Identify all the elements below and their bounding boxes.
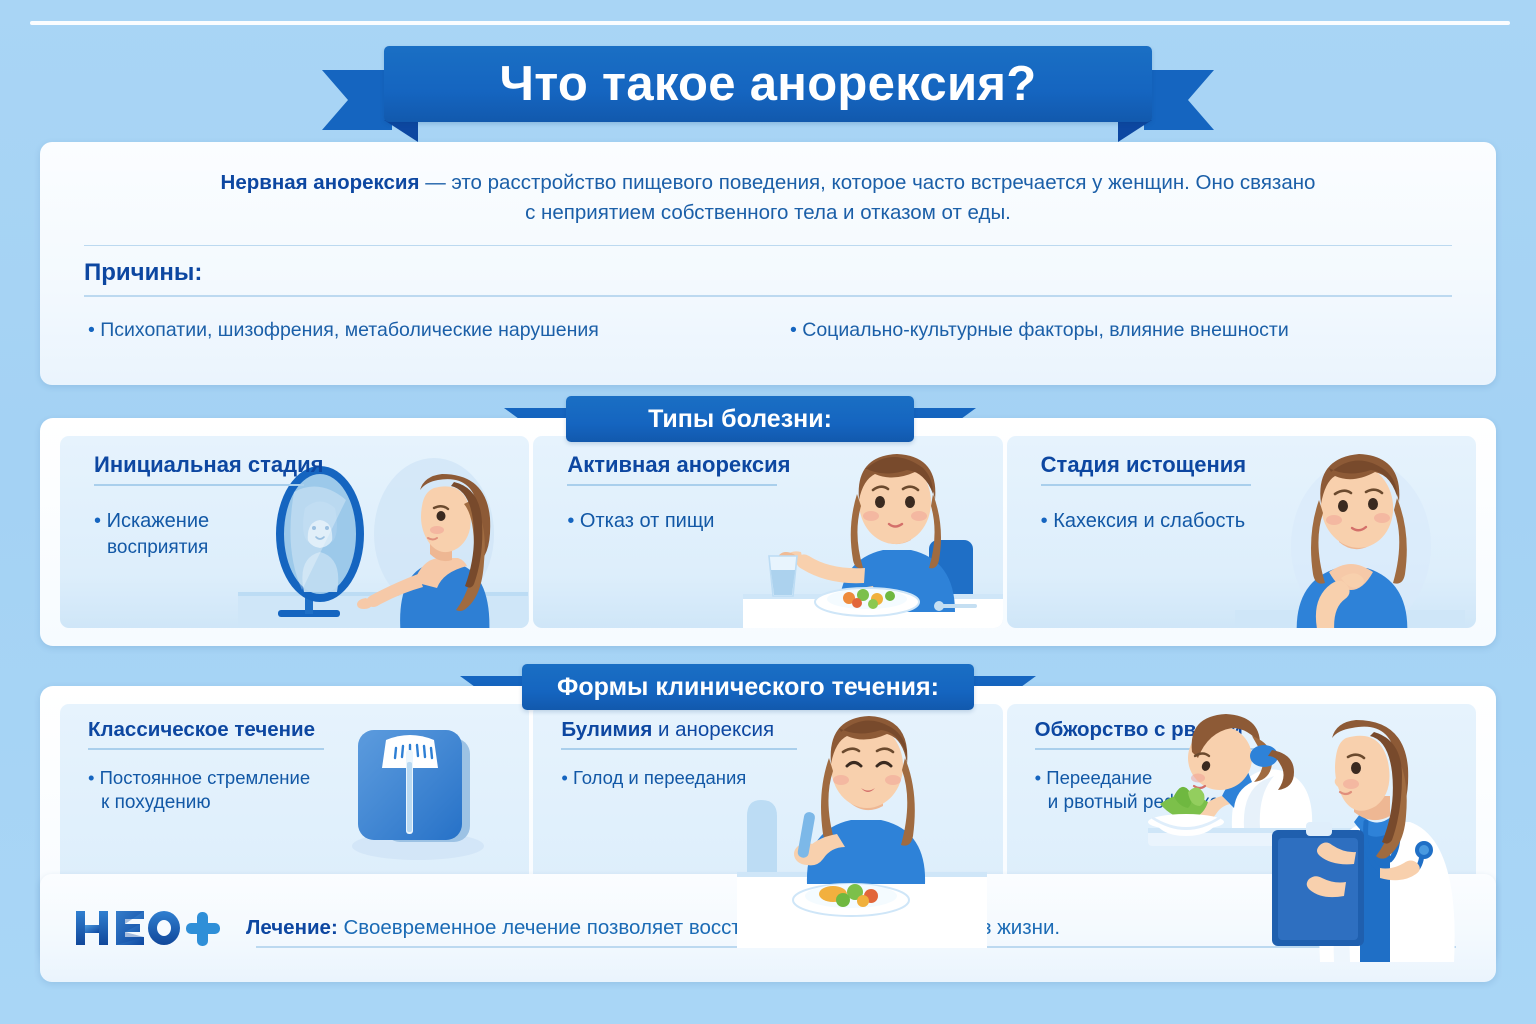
types-container: Инициальная стадия • Искажение восприяти… bbox=[40, 418, 1496, 646]
title-banner: Что такое анорексия? bbox=[384, 46, 1152, 122]
cause-text: Психопатии, шизофрения, метаболические н… bbox=[100, 319, 599, 341]
intro-paragraph: Нервная анорексия — это расстройство пищ… bbox=[40, 142, 1496, 229]
footer-divider bbox=[256, 946, 1456, 948]
bullet-dot-icon: • bbox=[567, 510, 574, 532]
type-panel-exhaustion: Стадия истощения • Кахексия и слабость bbox=[1007, 436, 1476, 628]
panel-bullet-text: Постоянное стремление bbox=[100, 767, 311, 788]
panel-title: Активная анорексия bbox=[533, 436, 1002, 478]
panel-title-light: и анорексия bbox=[652, 718, 774, 741]
panel-bullet-subtext: к похудению bbox=[88, 790, 340, 816]
intro-lead: Нервная анорексия bbox=[221, 171, 420, 194]
bullet-dot-icon: • bbox=[88, 319, 95, 341]
panel-bullet-subtext: и рвотный рефлекс bbox=[1035, 790, 1287, 816]
causes-label: Причины: bbox=[40, 246, 1496, 295]
bullet-dot-icon: • bbox=[790, 319, 797, 341]
cause-item: • Социально-культурные факторы, влияние … bbox=[746, 319, 1448, 342]
panel-bullet: • Голод и переедания bbox=[533, 750, 813, 791]
panel-title: Обжорство с рвотой bbox=[1007, 704, 1476, 742]
infographic-page: Что такое анорексия? Нервная анорексия —… bbox=[0, 0, 1536, 1024]
panel-bullet: • Переедание и рвотный рефлекс bbox=[1007, 750, 1287, 817]
intro-card: Нервная анорексия — это расстройство пищ… bbox=[40, 142, 1496, 385]
type-panel-active: Активная анорексия • Отказ от пищи bbox=[533, 436, 1002, 628]
panel-bullet-subtext: восприятия bbox=[94, 535, 360, 561]
ribbon-tail-right bbox=[1144, 70, 1214, 130]
footer-lead: Лечение: bbox=[246, 916, 338, 939]
panel-bullet: • Искажение восприятия bbox=[60, 486, 360, 561]
panel-bullet-text: Голод и переедания bbox=[573, 767, 746, 788]
panel-bullet-text: Отказ от пищи bbox=[580, 510, 715, 532]
top-divider bbox=[30, 21, 1510, 25]
ribbon-tail-left bbox=[322, 70, 392, 130]
panel-bullet: • Кахексия и слабость bbox=[1007, 486, 1307, 535]
type-panel-initial: Инициальная стадия • Искажение восприяти… bbox=[60, 436, 529, 628]
footer-body: Своевременное лечение позволяет восстано… bbox=[338, 916, 1060, 939]
bullet-dot-icon: • bbox=[1041, 510, 1048, 532]
panel-title: Стадия истощения bbox=[1007, 436, 1476, 478]
panel-title-strong: Булимия bbox=[561, 718, 652, 741]
footer-treatment-text: Лечение: Своевременное лечение позволяет… bbox=[224, 916, 1060, 940]
bullet-dot-icon: • bbox=[88, 767, 94, 788]
footer-card: Лечение: Своевременное лечение позволяет… bbox=[40, 874, 1496, 982]
panel-bullet-text: Переедание bbox=[1046, 767, 1152, 788]
panel-bullet-text: Кахексия и слабость bbox=[1053, 510, 1245, 532]
intro-line-1: Нервная анорексия — это расстройство пищ… bbox=[84, 168, 1452, 198]
panel-title: Классическое течение bbox=[60, 704, 529, 742]
panel-bullet-text: Искажение bbox=[107, 510, 210, 532]
ribbon-fold-left bbox=[384, 120, 418, 142]
bullet-dot-icon: • bbox=[561, 767, 567, 788]
cause-item: • Психопатии, шизофрения, метаболические… bbox=[88, 319, 746, 342]
causes-list: • Психопатии, шизофрения, метаболические… bbox=[40, 297, 1496, 342]
panel-title: Инициальная стадия bbox=[60, 436, 529, 478]
panel-bullet: • Отказ от пищи bbox=[533, 486, 833, 535]
bullet-dot-icon: • bbox=[94, 510, 101, 532]
intro-line-2: с неприятием собственного тела и отказом… bbox=[84, 198, 1452, 228]
panel-title: Булимия и анорексия bbox=[533, 704, 1002, 742]
panel-bullet: • Постоянное стремление к похудению bbox=[60, 750, 340, 817]
neo-plus-logo bbox=[74, 905, 224, 951]
intro-line1-text: — это расстройство пищевого поведения, к… bbox=[420, 171, 1316, 194]
page-title: Что такое анорексия? bbox=[384, 46, 1152, 122]
cause-text: Социально-культурные факторы, влияние вн… bbox=[802, 319, 1289, 341]
bullet-dot-icon: • bbox=[1035, 767, 1041, 788]
